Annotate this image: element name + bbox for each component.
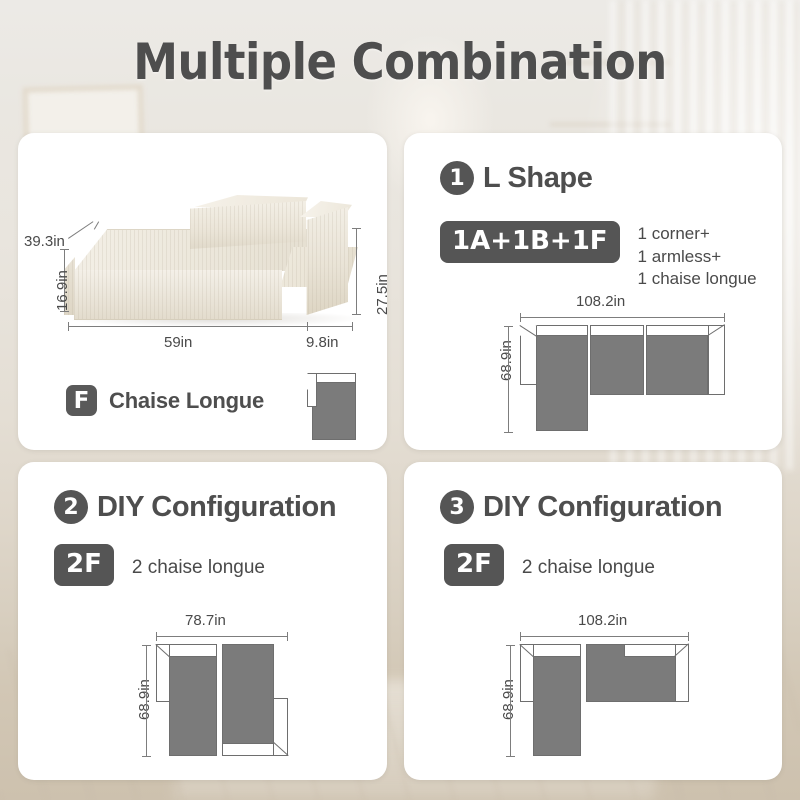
diy2-topview: [156, 644, 288, 757]
panel-number-2: 2: [54, 490, 88, 524]
diy3-width-rule: [520, 636, 688, 637]
card-diy-config-3: 3 DIY Configuration 2F 2 chaise longue 1…: [404, 462, 782, 780]
page-title: Multiple Combination: [0, 33, 800, 91]
l-shape-depth-tick-bottom: [504, 432, 513, 433]
chaise-module-seat: [646, 335, 708, 395]
armless-module-back: [590, 325, 644, 336]
card-l-shape: 1 L Shape 1A+1B+1F 1 corner+ 1 armless+ …: [404, 133, 782, 450]
config-row-diy-3: 2F 2 chaise longue: [444, 544, 655, 586]
diy2-width-tick-right: [287, 632, 288, 641]
width-arm-rule: [307, 326, 352, 327]
armless-module-seat: [590, 335, 644, 395]
panel-title-diy-2: DIY Configuration: [97, 491, 336, 524]
config-description-diy-3: 2 chaise longue: [522, 544, 655, 580]
diy3-depth-tick-top: [506, 645, 515, 646]
panel-heading-diy-3: 3 DIY Configuration: [440, 490, 722, 524]
dim-diy3-width: 108.2in: [578, 612, 627, 629]
dim-diy3-depth: 68.9in: [500, 679, 517, 720]
config-badge-diy-3: 2F: [444, 544, 504, 586]
seat-height-tick-top: [60, 249, 69, 250]
diy3-width-tick-right: [688, 632, 689, 641]
l-shape-depth-tick-top: [504, 326, 513, 327]
card-product-dimensions: 39.3in 16.9in 27.5in 59in 9.8in F Chaise…: [18, 133, 387, 450]
diy3-depth-rule: [510, 645, 511, 756]
diy3-left-seat: [533, 656, 581, 756]
diy2-depth-rule: [146, 645, 147, 756]
chaise-longue-topview-icon: [307, 373, 357, 441]
panel-title-l-shape: L Shape: [483, 162, 592, 195]
module-badge-f: F: [66, 385, 97, 416]
width-arm-tick-right: [352, 322, 353, 331]
seat-height-tick-bottom: [60, 311, 69, 312]
width-main-tick-left: [68, 322, 69, 331]
sofa-backrest: [190, 201, 306, 249]
dim-width-main: 59in: [164, 334, 192, 351]
dim-depth-diagonal: 39.3in: [24, 233, 65, 250]
diy3-width-tick-left: [520, 632, 521, 641]
dim-back-height: 27.5in: [374, 274, 387, 315]
panel-heading-l-shape: 1 L Shape: [440, 161, 592, 195]
module-label: Chaise Longue: [109, 388, 264, 414]
back-height-rule: [356, 228, 357, 314]
l-shape-depth-rule: [508, 326, 509, 432]
panel-heading-diy-2: 2 DIY Configuration: [54, 490, 336, 524]
diy2-depth-tick-bottom: [142, 756, 151, 757]
dim-diy2-depth: 68.9in: [136, 679, 153, 720]
config-description-diy-2: 2 chaise longue: [132, 544, 265, 580]
diy2-width-tick-left: [156, 632, 157, 641]
l-shape-topview: [520, 325, 725, 433]
chaise-module-back-right: [708, 325, 725, 395]
panel-title-diy-3: DIY Configuration: [483, 491, 722, 524]
diy2-left-back-side: [156, 644, 170, 702]
back-height-tick-bottom: [352, 314, 361, 315]
back-height-tick-top: [352, 228, 361, 229]
topview-seat: [312, 382, 356, 440]
diy2-right-seat: [222, 644, 274, 744]
panel-number-3: 3: [440, 490, 474, 524]
card-diy-config-2: 2 DIY Configuration 2F 2 chaise longue 7…: [18, 462, 387, 780]
sofa-front-face: [74, 270, 282, 320]
diy2-width-rule: [156, 636, 287, 637]
dim-diy2-width: 78.7in: [185, 612, 226, 629]
topview-backrest-top: [312, 373, 356, 383]
l-shape-width-tick-right: [724, 313, 725, 322]
config-badge-l-shape: 1A+1B+1F: [440, 221, 620, 263]
diy2-depth-tick-top: [142, 645, 151, 646]
corner-module-seat: [536, 335, 588, 431]
width-main-rule: [68, 326, 307, 327]
sofa-arm: [304, 207, 348, 315]
dim-seat-height: 16.9in: [54, 270, 71, 311]
diy2-left-seat: [169, 656, 217, 756]
config-row-diy-2: 2F 2 chaise longue: [54, 544, 265, 586]
config-badge-diy-2: 2F: [54, 544, 114, 586]
chaise-longue-photo: [64, 195, 342, 331]
dim-width-arm: 9.8in: [306, 334, 339, 351]
config-row-l-shape: 1A+1B+1F 1 corner+ 1 armless+ 1 chaise l…: [440, 221, 757, 291]
panel-number-1: 1: [440, 161, 474, 195]
dim-l-shape-width: 108.2in: [576, 293, 625, 310]
l-shape-width-rule: [520, 317, 724, 318]
diy3-depth-tick-bottom: [506, 756, 515, 757]
config-description-l-shape: 1 corner+ 1 armless+ 1 chaise longue: [638, 221, 757, 291]
l-shape-width-tick-left: [520, 313, 521, 322]
dim-l-shape-depth: 68.9in: [498, 340, 515, 381]
diy3-topview: [520, 644, 689, 757]
diy3-left-back-side: [520, 644, 534, 702]
module-legend: F Chaise Longue: [66, 385, 264, 416]
